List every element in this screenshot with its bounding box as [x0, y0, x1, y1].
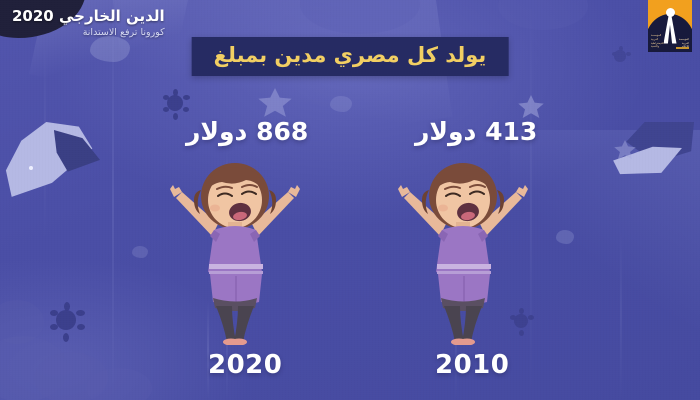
year-label-2010: 2010 — [435, 350, 509, 380]
logo-underline — [676, 47, 689, 49]
year-label-2020: 2020 — [208, 350, 282, 380]
page-title: يولد كل مصري مدين بمبلغ — [214, 44, 487, 67]
crying-child-icon-2010 — [398, 160, 528, 345]
crying-child-icon-2020 — [170, 160, 300, 345]
brand-subtitle: كورونا ترفع الاستدانة — [12, 27, 165, 38]
brand-title: الدين الخارجي 2020 — [12, 8, 165, 25]
organization-logo[interactable]: المؤسسةالعربيةللديمقراطيةوالتنمية المؤسس… — [648, 0, 692, 52]
brand-headline: الدين الخارجي 2020 كورونا ترفع الاستدانة — [12, 8, 165, 39]
amount-label-2020: 868 دولار — [186, 117, 308, 146]
main-title-banner: يولد كل مصري مدين بمبلغ — [192, 37, 509, 76]
logo-label-left: المؤسسةالعربيةللديمقراطيةوالتنمية — [651, 34, 664, 49]
infographic-canvas: الدين الخارجي 2020 كورونا ترفع الاستدانة… — [0, 0, 700, 400]
amount-label-2010: 413 دولار — [415, 117, 537, 146]
